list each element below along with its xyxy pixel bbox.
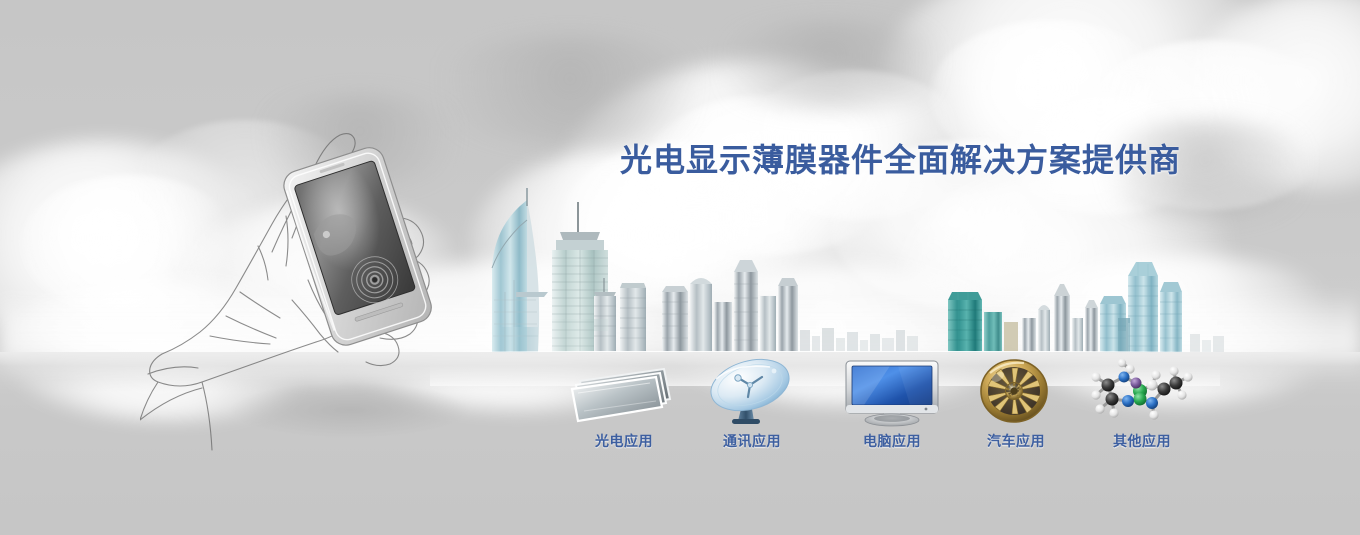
application-icons-row: 光电应用 xyxy=(560,355,1200,465)
application-item-other[interactable]: 其他应用 xyxy=(1078,355,1206,465)
mid-cluster xyxy=(662,260,798,352)
twin-towers xyxy=(594,278,646,352)
monitor-icon xyxy=(828,355,956,427)
molecule-icon xyxy=(1078,355,1206,427)
application-item-automotive[interactable]: 汽车应用 xyxy=(952,355,1080,465)
banner-stage: 光电显示薄膜器件全面解决方案提供商 xyxy=(0,0,1360,535)
teal-towers xyxy=(948,292,1018,352)
application-label: 光电应用 xyxy=(560,433,688,451)
car-wheel-icon xyxy=(952,355,1080,427)
application-label: 汽车应用 xyxy=(952,433,1080,451)
application-item-computer[interactable]: 电脑应用 xyxy=(828,355,956,465)
page-title: 光电显示薄膜器件全面解决方案提供商 xyxy=(620,141,1181,179)
sail-tower xyxy=(492,188,548,352)
application-item-communication[interactable]: 通讯应用 xyxy=(688,355,816,465)
blue-glass-cluster xyxy=(1100,262,1182,352)
horizon-line xyxy=(430,351,1220,352)
application-item-optoelectronic[interactable]: 光电应用 xyxy=(560,355,688,465)
application-label: 其他应用 xyxy=(1078,433,1206,451)
satellite-dish-icon xyxy=(688,355,816,427)
application-label: 通讯应用 xyxy=(688,433,816,451)
skyline-reflection xyxy=(492,319,1182,353)
main-tower xyxy=(552,202,608,352)
hand-holding-phone-illustration xyxy=(140,120,480,480)
glass-panels-icon xyxy=(560,355,688,427)
application-label: 电脑应用 xyxy=(828,433,956,451)
distant-city xyxy=(800,328,918,352)
far-right-blocks xyxy=(1190,334,1224,352)
silver-spires xyxy=(1022,284,1098,352)
